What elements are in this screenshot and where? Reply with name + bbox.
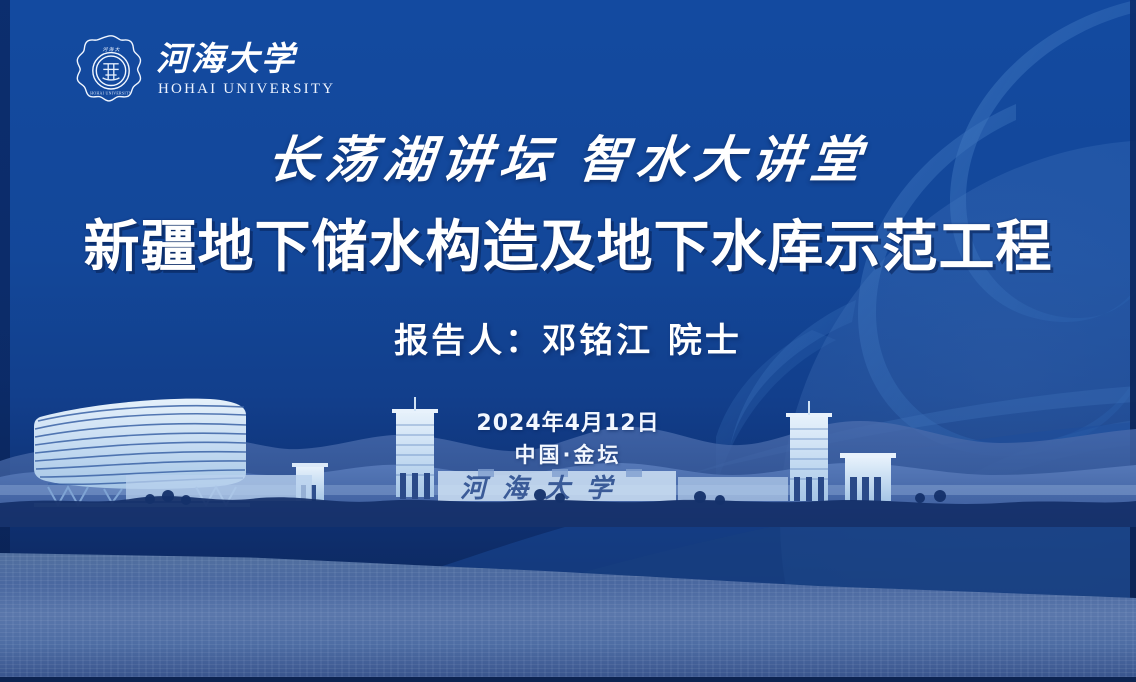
logo-name-en: HOHAI UNIVERSITY bbox=[156, 81, 335, 98]
event-date: 2024年4月12日 bbox=[0, 408, 1136, 440]
bottom-edge-bar bbox=[0, 677, 1136, 682]
speaker-line: 报告人：邓铭江 院士 bbox=[0, 313, 1136, 362]
hohai-university-logo: 河 海 大 HOHAI UNIVERSITY 河海大学 HOHAI UNIVER… bbox=[76, 33, 335, 103]
svg-text:河 海 大: 河 海 大 bbox=[102, 46, 120, 53]
event-meta: 2024年4月12日 中国·金坛 bbox=[0, 408, 1136, 470]
svg-text:HOHAI UNIVERSITY: HOHAI UNIVERSITY bbox=[90, 92, 131, 96]
logo-name-cn: 河海大学 bbox=[156, 39, 328, 79]
forum-title: 长荡湖讲坛 智水大讲堂 bbox=[0, 133, 1136, 188]
hohai-university-emblem-icon: 河 海 大 HOHAI UNIVERSITY bbox=[76, 33, 146, 103]
event-place: 中国·金坛 bbox=[0, 440, 1136, 470]
logo-name-cn-text: 河海大学 bbox=[156, 41, 298, 78]
page-title: 新疆地下储水构造及地下水库示范工程 bbox=[0, 216, 1136, 280]
poster-canvas: 河海大学 bbox=[0, 0, 1136, 682]
logo-text-block: 河海大学 HOHAI UNIVERSITY bbox=[156, 39, 335, 98]
